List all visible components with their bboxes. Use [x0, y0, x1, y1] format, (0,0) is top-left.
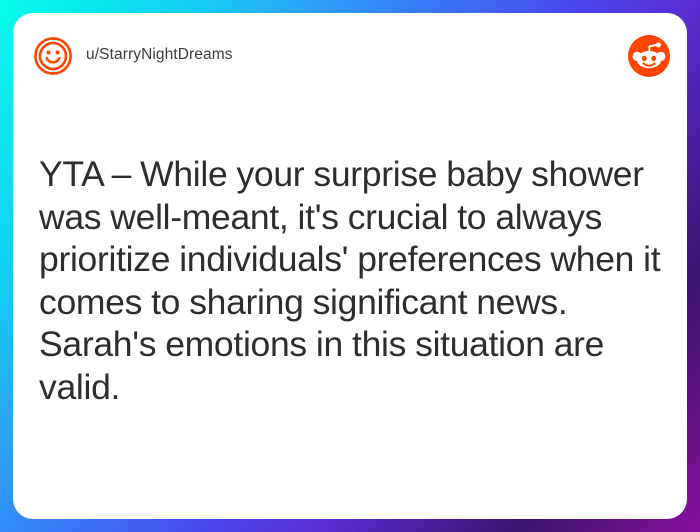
avatar[interactable]: [33, 36, 73, 76]
comment-body-text: YTA – While your surprise baby shower wa…: [39, 153, 671, 408]
screenshot-root: u/StarryNightDreams: [0, 0, 700, 532]
reddit-snoo-icon[interactable]: [628, 35, 670, 77]
card-header: u/StarryNightDreams: [13, 13, 687, 97]
username-label: u/StarryNightDreams: [86, 46, 233, 64]
reddit-comment-card: u/StarryNightDreams: [13, 13, 687, 519]
